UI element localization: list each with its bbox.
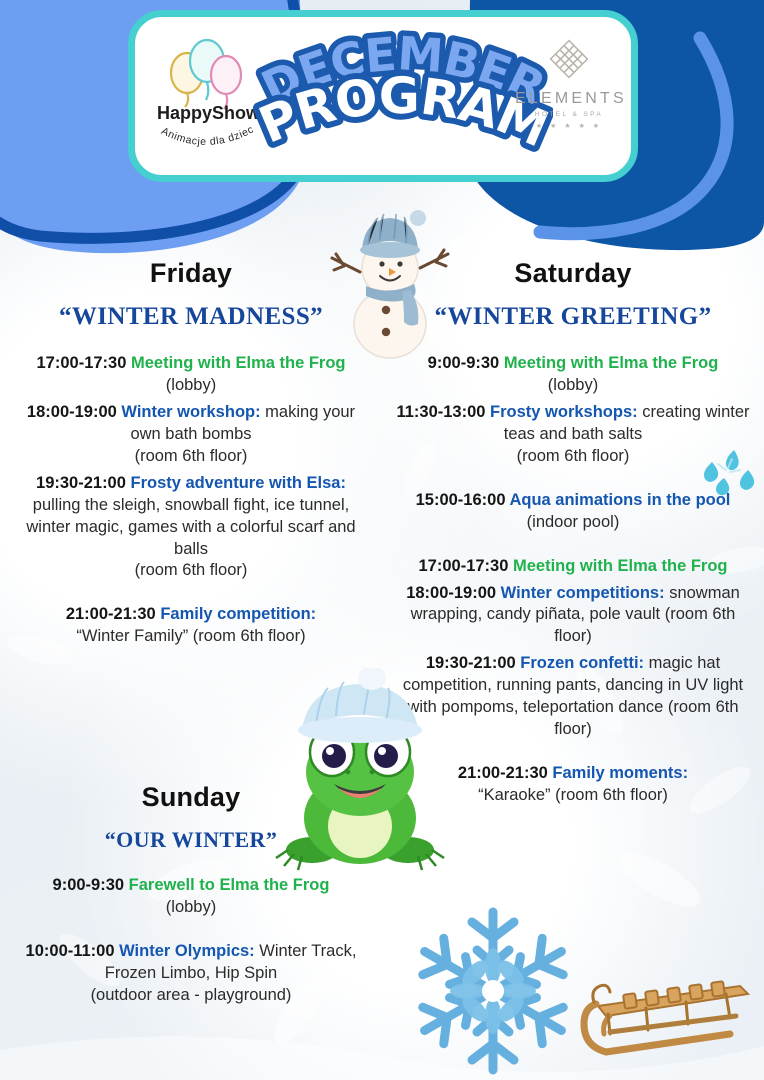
event-title: Frozen confetti: <box>520 654 644 672</box>
elements-diamond-icon <box>549 39 589 79</box>
event-title: Meeting with Elma the Frog <box>513 557 728 575</box>
elements-name: ELEMENTS <box>515 90 623 108</box>
poster-canvas: HappyShow Animacje dla dzieci <box>0 0 764 1080</box>
svg-text:HappyShow: HappyShow <box>157 103 261 123</box>
event-time: 19:30-21:00 <box>36 474 130 492</box>
event-title: Frosty workshops: <box>490 403 638 421</box>
event-time: 18:00-19:00 <box>27 403 121 421</box>
elements-logo: ELEMENTS HOTEL & SPA ★ ★ ★ ★ ★ <box>515 39 623 149</box>
poster-title: DECEMBER DECEMBER PROGRAM <box>253 21 553 187</box>
event-item: 21:00-21:30 Family competition:“Winter F… <box>0 604 382 648</box>
event-item: 18:00-19:00 Winter competitions: snowman… <box>382 583 764 649</box>
event-place: (lobby) <box>392 375 754 397</box>
balloons-icon: HappyShow Animacje dla dzieci <box>149 35 265 161</box>
event-place: (room 6th floor) <box>10 560 372 582</box>
event-title: Frosty adventure with Elsa: <box>131 474 346 492</box>
event-time: 21:00-21:30 <box>66 605 160 623</box>
header-card: HappyShow Animacje dla dzieci <box>128 10 638 182</box>
event-place: (indoor pool) <box>392 512 754 534</box>
event-title: Family moments: <box>552 764 688 782</box>
event-title: Family competition: <box>160 605 316 623</box>
happyshow-logo: HappyShow Animacje dla dzieci <box>149 35 265 161</box>
event-title: Winter workshop: <box>121 403 260 421</box>
event-time: 10:00-11:00 <box>26 942 120 960</box>
frog-in-beanie-illustration <box>272 668 448 894</box>
event-time: 21:00-21:30 <box>458 764 552 782</box>
snowflake-illustration <box>400 898 586 1080</box>
event-list-friday: 17:00-17:30 Meeting with Elma the Frog(l… <box>0 353 382 648</box>
event-item: 18:00-19:00 Winter workshop: making your… <box>0 402 382 468</box>
event-title: Winter Olympics: <box>119 942 255 960</box>
event-item: 17:00-17:30 Meeting with Elma the Frog <box>382 556 764 578</box>
event-time: 17:00-17:30 <box>37 354 131 372</box>
elements-stars: ★ ★ ★ ★ ★ <box>515 122 623 130</box>
event-item: 11:30-13:00 Frosty workshops: creating w… <box>382 402 764 468</box>
event-item: 19:30-21:00 Frosty adventure with Elsa: … <box>0 473 382 583</box>
snowman-illustration <box>322 206 458 366</box>
event-title: Winter competitions: <box>501 584 665 602</box>
event-time: 17:00-17:30 <box>419 557 513 575</box>
event-time: 15:00-16:00 <box>416 491 510 509</box>
event-place: (outdoor area - playground) <box>10 985 372 1007</box>
event-item: 15:00-16:00 Aqua animations in the pool(… <box>382 490 764 534</box>
event-detail: pulling the sleigh, snowball fight, ice … <box>26 496 355 558</box>
event-place: “Winter Family” (room 6th floor) <box>10 626 372 648</box>
event-item: 10:00-11:00 Winter Olympics: Winter Trac… <box>0 941 382 1007</box>
event-time: 11:30-13:00 <box>396 403 490 421</box>
event-time: 18:00-19:00 <box>406 584 500 602</box>
event-title: Aqua animations in the pool <box>509 491 730 509</box>
sled-illustration <box>580 960 760 1070</box>
elements-subtitle: HOTEL & SPA <box>515 111 623 118</box>
event-place: (room 6th floor) <box>10 446 372 468</box>
event-time: 9:00-9:30 <box>53 876 129 894</box>
event-list-sunday: 9:00-9:30 Farewell to Elma the Frog(lobb… <box>0 875 382 1007</box>
event-place: (room 6th floor) <box>392 446 754 468</box>
event-title: Meeting with Elma the Frog <box>131 354 346 372</box>
event-place: (lobby) <box>10 375 372 397</box>
event-title: Meeting with Elma the Frog <box>504 354 719 372</box>
event-place: (lobby) <box>10 897 372 919</box>
